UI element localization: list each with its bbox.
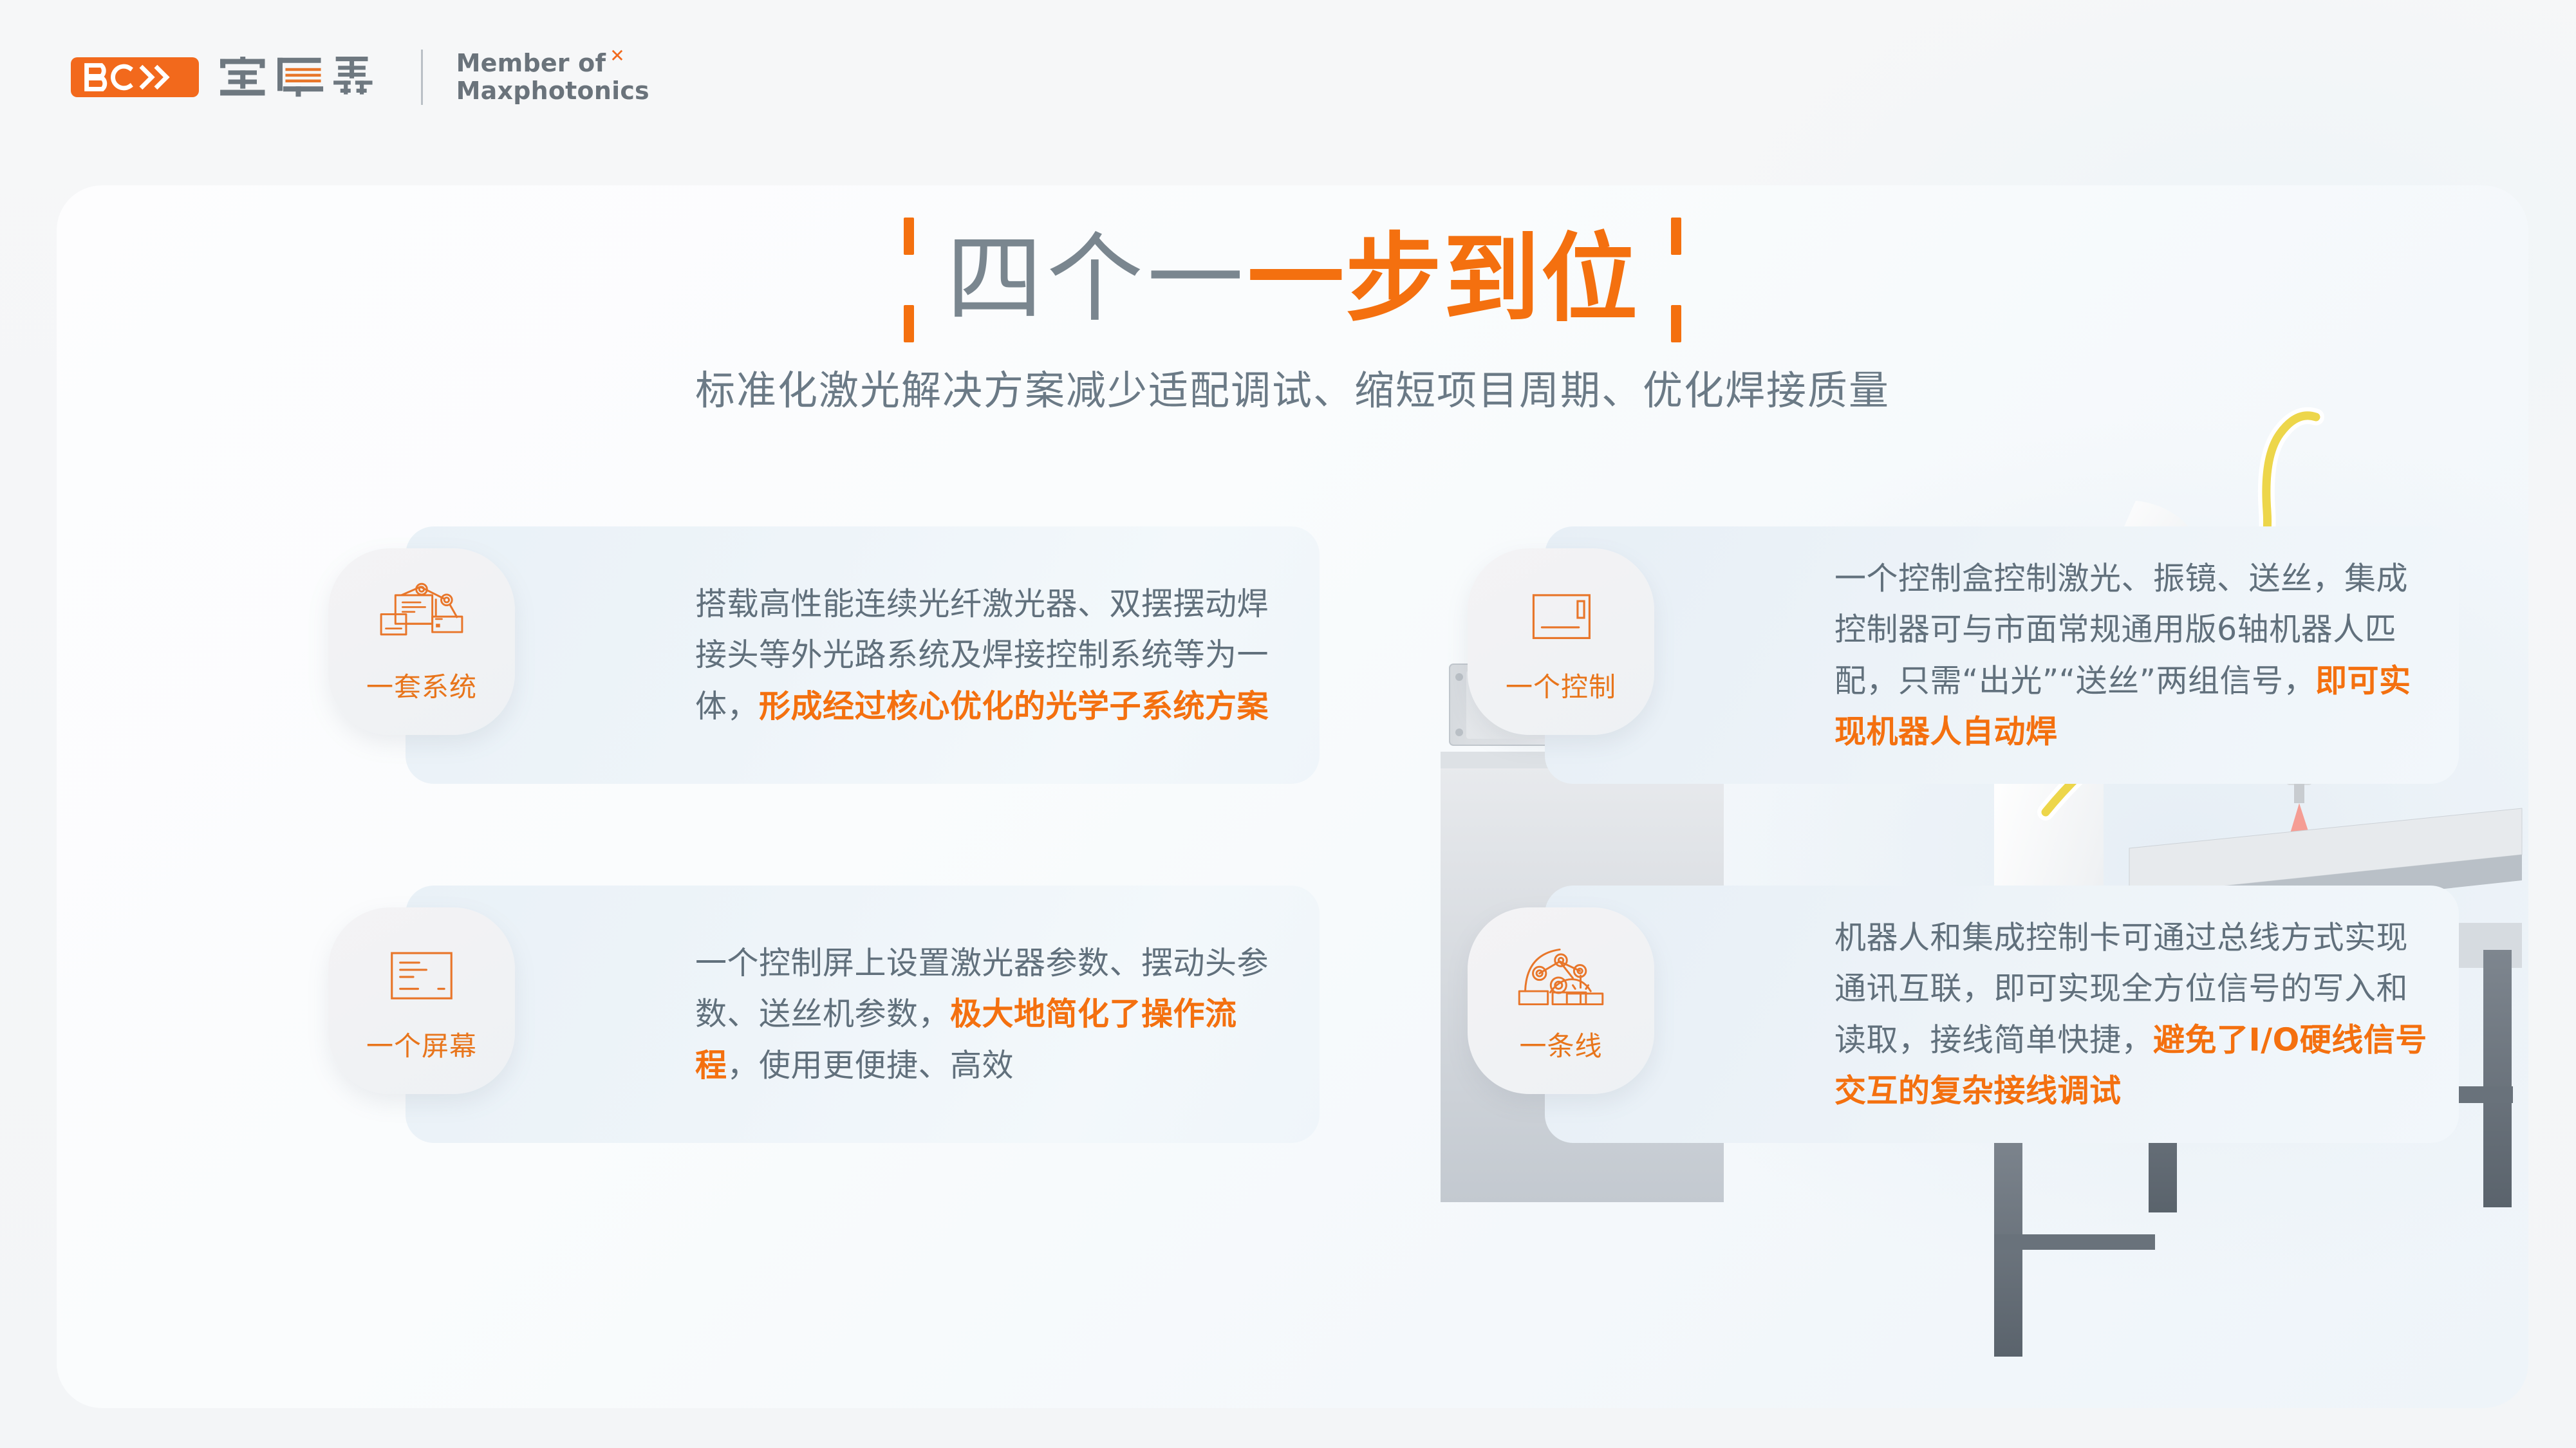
robot-arm-workstation-icon — [374, 579, 469, 656]
corner-mark-top-right-icon — [1671, 218, 1681, 255]
feature-item-2[interactable]: 一个控制盒控制激光、振镜、送丝，集成控制器可与市面常规通用版6轴机器人匹配，只需… — [1468, 526, 2459, 803]
feature-body-highlight-1: 形成经过核心优化的光学子系统方案 — [759, 688, 1269, 725]
feature-item-1[interactable]: 搭载高性能连续光纤激光器、双摆摆动焊接头等外光路系统及焊接控制系统等为一体，形成… — [328, 526, 1320, 803]
screen-panel-icon — [374, 938, 469, 1016]
hero-title-orange: 一步到位 — [1247, 223, 1639, 335]
hero-title-gray: 四个一 — [946, 223, 1247, 335]
feature-card-3: 一个控制屏上设置激光器参数、摆动头参数、送丝机参数，极大地简化了操作流程，使用更… — [406, 886, 1320, 1143]
feature-badge-4[interactable]: 一条线 — [1468, 907, 1654, 1094]
hero-title-box: 四个一一步到位 — [904, 225, 1681, 333]
header-divider — [421, 50, 423, 105]
bcx-latin-logo-badge — [71, 57, 199, 97]
bcx-chinese-wordmark-icon — [216, 57, 387, 98]
feature-card-1: 搭载高性能连续光纤激光器、双摆摆动焊接头等外光路系统及焊接控制系统等为一体，形成… — [406, 526, 1320, 784]
corner-mark-bottom-right-icon — [1671, 305, 1681, 342]
feature-caption-1: 一套系统 — [366, 665, 477, 705]
feature-badge-3[interactable]: 一个屏幕 — [328, 907, 515, 1094]
feature-card-4: 机器人和集成控制卡可通过总线方式实现通讯互联，即可实现全方位信号的写入和读取，接… — [1545, 886, 2459, 1143]
feature-item-3[interactable]: 一个控制屏上设置激光器参数、摆动头参数、送丝机参数，极大地简化了操作流程，使用更… — [328, 886, 1320, 1162]
corner-mark-top-left-icon — [904, 218, 914, 255]
feature-caption-4: 一条线 — [1519, 1025, 1602, 1064]
content-panel: BCX 宝辰鑫 BFSC-3000 — [57, 185, 2528, 1408]
feature-body-3: 一个控制屏上设置激光器参数、摆动头参数、送丝机参数，极大地简化了操作流程，使用更… — [695, 938, 1290, 1091]
member-of-label: Member of — [456, 50, 606, 77]
feature-body-2: 一个控制盒控制激光、振镜、送丝，集成控制器可与市面常规通用版6轴机器人匹配，只需… — [1834, 553, 2429, 757]
feature-item-4[interactable]: 机器人和集成控制卡可通过总线方式实现通讯互联，即可实现全方位信号的写入和读取，接… — [1468, 886, 2459, 1162]
feature-badge-1[interactable]: 一套系统 — [328, 548, 515, 735]
feature-grid: 搭载高性能连续光纤激光器、双摆摆动焊接头等外光路系统及焊接控制系统等为一体，形成… — [57, 526, 2528, 1175]
feature-body-1: 搭载高性能连续光纤激光器、双摆摆动焊接头等外光路系统及焊接控制系统等为一体，形成… — [695, 579, 1290, 732]
corner-mark-bottom-left-icon — [904, 305, 914, 342]
maxphotonics-x-icon: ✕ — [610, 47, 625, 65]
hero-subtitle: 标准化激光解决方案减少适配调试、缩短项目周期、优化焊接质量 — [57, 358, 2528, 416]
bcx-logo[interactable] — [71, 57, 387, 98]
feature-body-4: 机器人和集成控制卡可通过总线方式实现通讯互联，即可实现全方位信号的写入和读取，接… — [1834, 912, 2429, 1117]
control-box-icon — [1513, 579, 1609, 656]
feature-badge-2[interactable]: 一个控制 — [1468, 548, 1654, 735]
feature-caption-2: 一个控制 — [1506, 665, 1616, 705]
feature-body-after-3: ，使用更便捷、高效 — [727, 1047, 1014, 1084]
brand-header: Member of ✕ Maxphotonics — [71, 39, 649, 116]
feature-caption-3: 一个屏幕 — [366, 1025, 477, 1064]
feature-row-2: 一个控制屏上设置激光器参数、摆动头参数、送丝机参数，极大地简化了操作流程，使用更… — [57, 886, 2528, 1175]
feature-card-2: 一个控制盒控制激光、振镜、送丝，集成控制器可与市面常规通用版6轴机器人匹配，只需… — [1545, 526, 2459, 784]
bcx-wordmark-icon — [84, 62, 187, 92]
maxphotonics-label: Maxphotonics — [456, 77, 649, 105]
hero-title: 四个一一步到位 — [946, 225, 1639, 333]
robot-welding-line-icon — [1513, 938, 1609, 1016]
feature-row-1: 搭载高性能连续光纤激光器、双摆摆动焊接头等外光路系统及焊接控制系统等为一体，形成… — [57, 526, 2528, 816]
maxphotonics-membership: Member of ✕ Maxphotonics — [456, 50, 649, 104]
hero-title-wrap: 四个一一步到位 — [57, 225, 2528, 333]
